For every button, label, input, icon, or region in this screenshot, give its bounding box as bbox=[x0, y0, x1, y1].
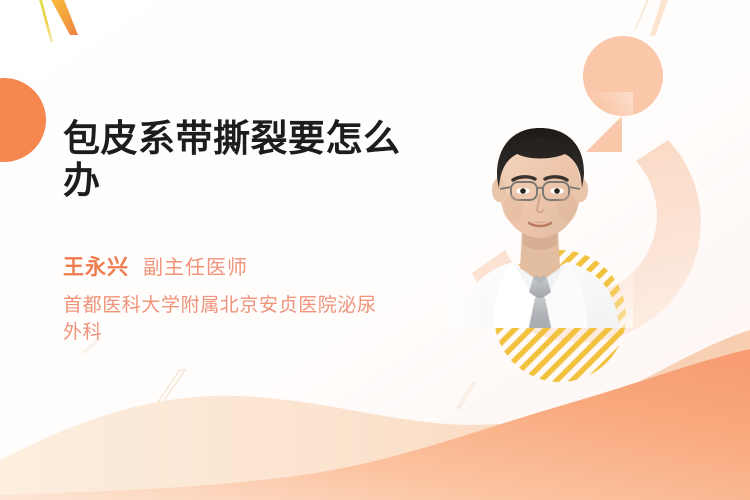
video-cover-card: 包皮系带撕裂要怎么办 王永兴 副主任医师 首都医科大学附属北京安贞医院泌尿外科 bbox=[0, 0, 750, 500]
doctor-affiliation: 首都医科大学附属北京安贞医院泌尿外科 bbox=[63, 293, 393, 347]
page-title: 包皮系带撕裂要怎么办 bbox=[63, 118, 408, 202]
doctor-portrait bbox=[447, 92, 633, 328]
doctor-rank: 副主任医师 bbox=[143, 251, 248, 280]
doctor-name: 王永兴 bbox=[63, 251, 129, 281]
doctor-identity-line: 王永兴 副主任医师 bbox=[63, 251, 423, 281]
text-content-block: 包皮系带撕裂要怎么办 王永兴 副主任医师 首都医科大学附属北京安贞医院泌尿外科 bbox=[63, 118, 423, 347]
